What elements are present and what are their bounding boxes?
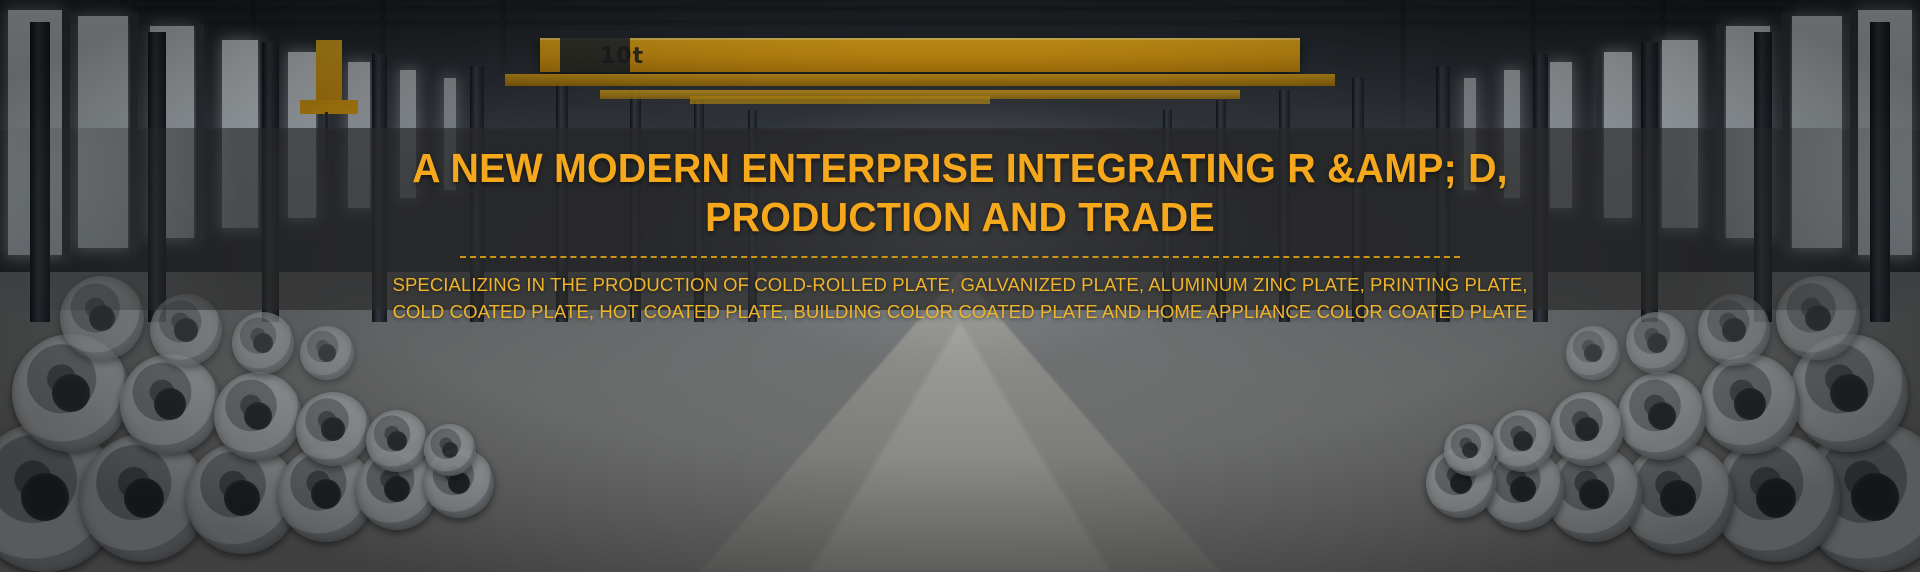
banner-subtitle: SPECIALIZING IN THE PRODUCTION OF COLD-R…	[0, 271, 1920, 325]
banner-content: A NEW MODERN ENTERPRISE INTEGRATING R &A…	[0, 128, 1920, 325]
hero-banner: 10t	[0, 0, 1920, 572]
headline-line-1: A NEW MODERN ENTERPRISE INTEGRATING R &A…	[412, 145, 1457, 191]
banner-headline: A NEW MODERN ENTERPRISE INTEGRATING R &A…	[38, 128, 1881, 242]
subtitle-line-2: COLD COATED PLATE, HOT COATED PLATE, BUI…	[280, 298, 1640, 325]
subtitle-line-1: SPECIALIZING IN THE PRODUCTION OF COLD-R…	[280, 271, 1640, 298]
dashed-divider	[460, 256, 1460, 258]
